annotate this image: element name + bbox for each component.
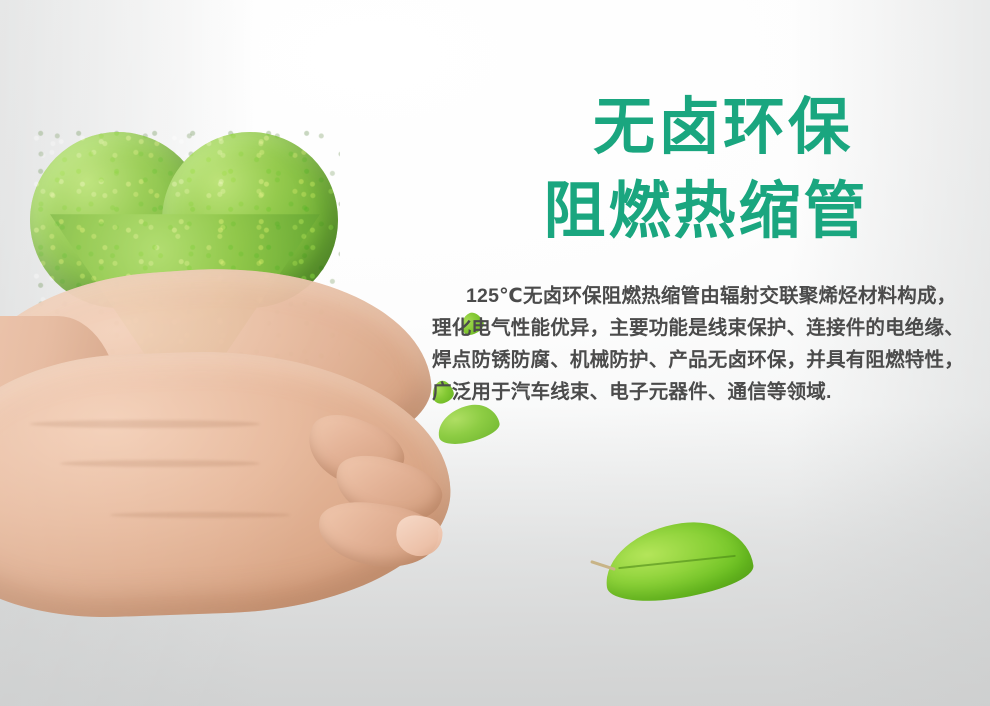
product-banner: 无卤环保 阻燃热缩管 125℃无卤环保阻燃热缩管由辐射交联聚烯烃材料构成， 理化…: [0, 0, 990, 706]
description-line-3: 焊点防锈防腐、机械防护、产品无卤环保，并具有阻燃特性，: [432, 344, 980, 376]
copy-block: 无卤环保 阻燃热缩管 125℃无卤环保阻燃热缩管由辐射交联聚烯烃材料构成， 理化…: [432, 86, 980, 408]
description-line-4: 广泛用于汽车线束、电子元器件、通信等领域.: [432, 376, 980, 408]
headline-line-2: 阻燃热缩管: [432, 170, 980, 254]
fingers-group: [300, 420, 470, 600]
palm-crease-2: [60, 460, 260, 467]
green-leaf-icon: [604, 524, 752, 598]
headline-line-1: 无卤环保: [466, 86, 980, 170]
description-line-1: 125℃无卤环保阻燃热缩管由辐射交联聚烯烃材料构成，: [432, 280, 980, 312]
palm-crease-1: [30, 420, 260, 428]
palm-crease-3: [110, 512, 290, 518]
headline: 无卤环保 阻燃热缩管: [432, 86, 980, 254]
description-paragraph: 125℃无卤环保阻燃热缩管由辐射交联聚烯烃材料构成， 理化电气性能优异，主要功能…: [432, 280, 980, 408]
description-line-2: 理化电气性能优异，主要功能是线束保护、连接件的电绝缘、: [432, 312, 980, 344]
